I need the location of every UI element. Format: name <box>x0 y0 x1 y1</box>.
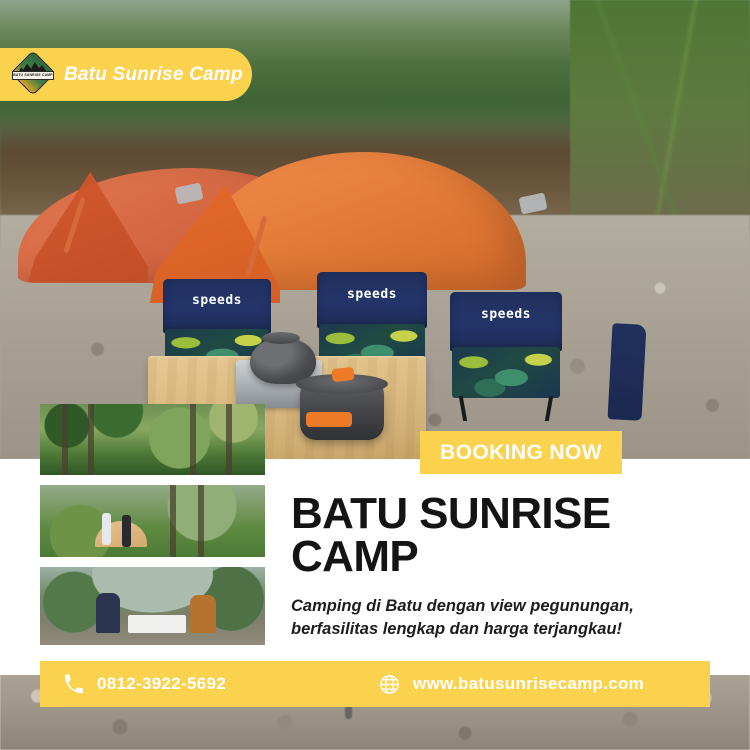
thumb-person <box>96 593 120 633</box>
booking-now-button[interactable]: BOOKING NOW <box>420 431 622 474</box>
camp-logo-icon: BATU SUNRISE CAMP <box>12 54 54 96</box>
subtitle-line-2: berfasilitas lengkap dan harga terjangka… <box>291 618 681 641</box>
website-url: www.batusunrisecamp.com <box>413 674 644 694</box>
chair-backrest: speeds <box>163 279 271 333</box>
tree-trunk <box>226 404 232 475</box>
brand-banner[interactable]: BATU SUNRISE CAMP Batu Sunrise Camp <box>0 48 252 101</box>
subtitle-line-1: Camping di Batu dengan view pegunungan, <box>291 595 681 618</box>
chair-legs <box>457 396 556 421</box>
thumb-person <box>122 515 131 547</box>
website-contact[interactable]: www.batusunrisecamp.com <box>378 673 644 696</box>
chair-brand-label: speeds <box>450 307 562 322</box>
page-title: BATU SUNRISE CAMP <box>291 493 691 578</box>
tree-trunk <box>170 485 176 557</box>
tree-trunk <box>88 404 94 475</box>
brand-name: Batu Sunrise Camp <box>64 64 243 86</box>
phone-icon <box>62 673 85 696</box>
pot-knob <box>331 367 354 382</box>
chair-seat <box>452 347 560 398</box>
thumb-couple-table-mountain <box>40 567 265 645</box>
tree-trunk <box>62 404 68 475</box>
thumb-person <box>102 513 111 545</box>
page-subtitle: Camping di Batu dengan view pegunungan, … <box>291 595 681 642</box>
headline-line-1: BATU SUNRISE <box>291 493 691 536</box>
phone-contact[interactable]: 0812-3922-5692 <box>62 673 226 696</box>
kettle-lid <box>262 332 300 344</box>
camp-chair-far-right <box>608 323 647 421</box>
chair-brand-label: speeds <box>163 293 271 308</box>
thumb-table <box>128 615 186 633</box>
tree-trunk <box>190 404 196 475</box>
tree-trunk <box>198 485 204 557</box>
globe-icon <box>378 673 401 696</box>
contact-bar: 0812-3922-5692 www.batusunrisecamp.com <box>40 661 710 707</box>
chair-backrest: speeds <box>317 272 427 328</box>
thumb-forest-valley-view <box>40 404 265 475</box>
hero-bamboo <box>570 0 750 230</box>
pot-handle <box>306 412 352 427</box>
logo-ribbon-text: BATU SUNRISE CAMP <box>13 73 53 77</box>
chair-backrest: speeds <box>450 292 562 351</box>
phone-number: 0812-3922-5692 <box>97 674 226 694</box>
headline-line-2: CAMP <box>291 536 691 579</box>
thumb-tent-campers-hillside <box>40 485 265 557</box>
camp-chair-right: speeds <box>450 292 562 398</box>
poster-root: speeds speeds speeds <box>0 0 750 750</box>
logo-ribbon: BATU SUNRISE CAMP <box>12 71 54 80</box>
booking-now-label: BOOKING NOW <box>440 441 602 465</box>
chair-brand-label: speeds <box>317 287 427 302</box>
thumb-person <box>190 595 216 633</box>
